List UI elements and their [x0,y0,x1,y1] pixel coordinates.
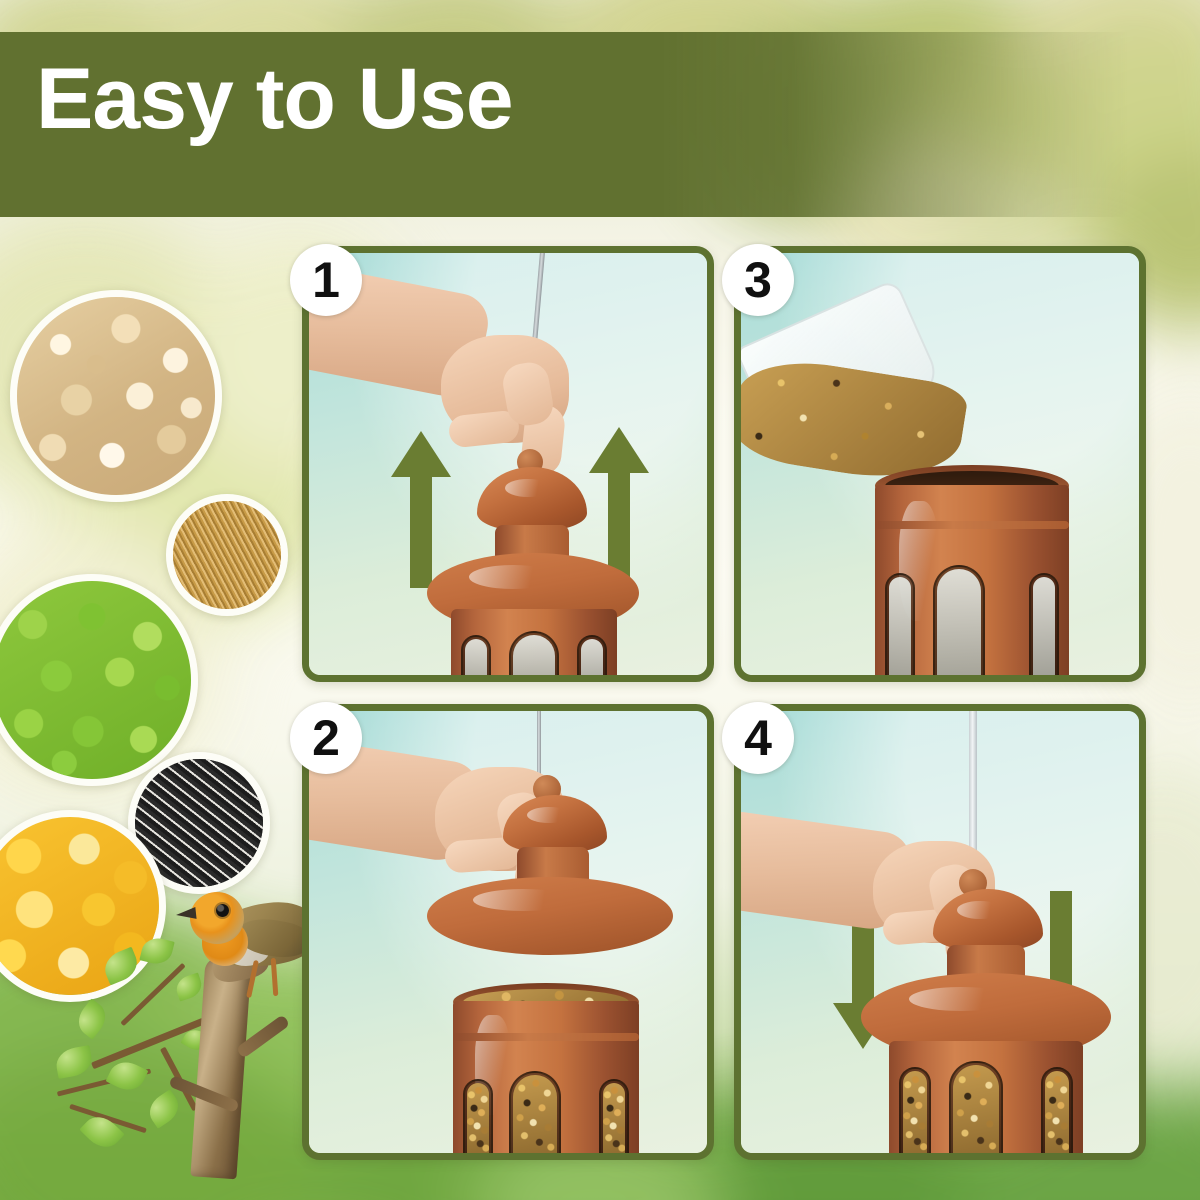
feeder-collar-3 [875,521,1069,529]
step-badge-3: 3 [722,244,794,316]
bird-head [190,892,244,944]
step-panel-1[interactable] [302,246,714,682]
seed-circle-oat-flakes [10,290,222,502]
feeder-window-2c [599,1079,629,1160]
title-banner: Easy to Use [0,32,1200,217]
oat-flakes-texture [17,297,215,495]
feeder-window-4c [1041,1067,1073,1160]
step-badge-2: 2 [290,702,362,774]
feeder-window-3c [1029,573,1059,682]
feeder-window-1b [509,631,559,682]
feeder-window-3a [885,573,915,682]
feeder-window-4a [899,1067,931,1160]
feeder-window-4b [949,1061,1003,1160]
step-badge-4: 4 [722,702,794,774]
poster-root: Easy to Use [0,0,1200,1200]
feeder-window-2a [463,1079,493,1160]
feeder-roof-2 [427,877,673,955]
feeder-window-1c [577,635,607,682]
feeder-collar-2 [453,1033,639,1041]
green-peas-texture [0,581,191,779]
seed-circle-green-peas [0,574,198,786]
feeder-window-2b [509,1071,561,1160]
page-title: Easy to Use [36,56,513,142]
step-panel-3[interactable] [734,246,1146,682]
feeder-window-1a [461,635,491,682]
step-badge-1: 1 [290,244,362,316]
bird-eye [216,904,229,917]
feeder-window-3b [933,565,985,682]
bird-beak [175,907,196,921]
step-panel-4[interactable] [734,704,1146,1160]
step-panel-2[interactable] [302,704,714,1160]
